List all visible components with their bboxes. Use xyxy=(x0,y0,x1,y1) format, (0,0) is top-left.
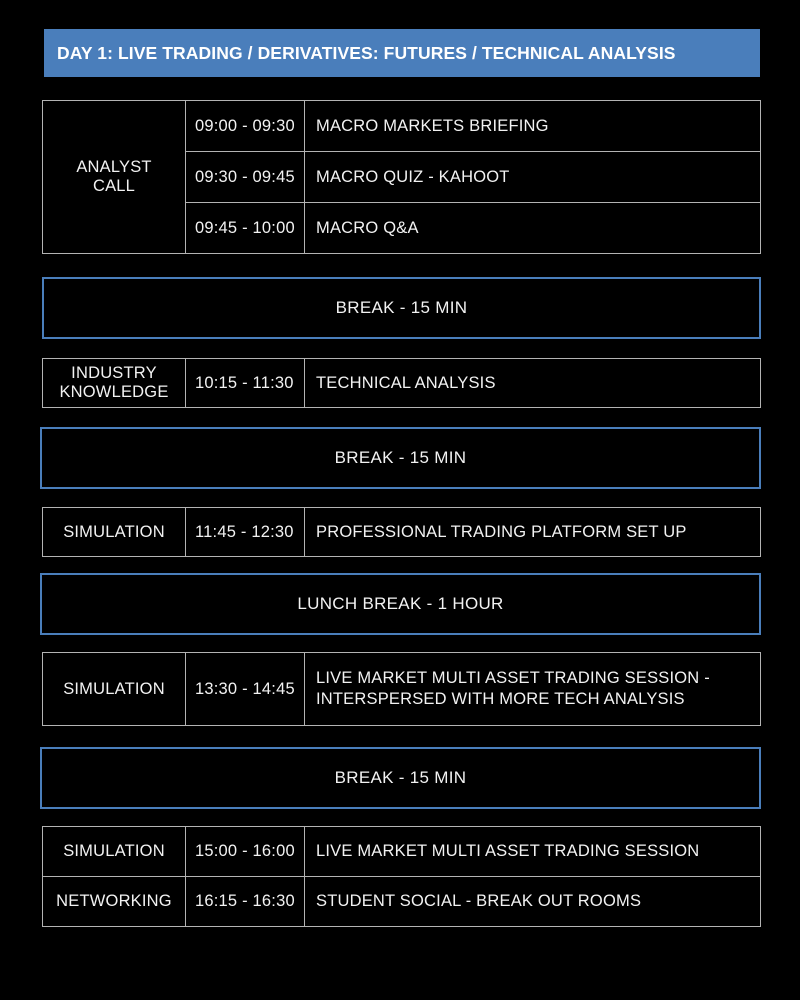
time-cell: 09:00 - 09:30 xyxy=(186,101,305,152)
break-bar-1: BREAK - 15 MIN xyxy=(42,277,761,339)
time-cell: 16:15 - 16:30 xyxy=(186,877,305,927)
table-row: SIMULATION 11:45 - 12:30 PROFESSIONAL TR… xyxy=(43,508,761,557)
table-row: SIMULATION 15:00 - 16:00 LIVE MARKET MUL… xyxy=(43,827,761,877)
schedule-block-analyst-call: ANALYST CALL 09:00 - 09:30 MACRO MARKETS… xyxy=(42,100,761,254)
time-cell: 09:45 - 10:00 xyxy=(186,203,305,254)
schedule-page: DAY 1: LIVE TRADING / DERIVATIVES: FUTUR… xyxy=(0,0,800,1000)
category-label-line: SIMULATION xyxy=(47,523,181,542)
time-cell: 10:15 - 11:30 xyxy=(186,359,305,408)
category-label-line: ANALYST xyxy=(47,158,181,177)
schedule-block-simulation-live-interspersed: SIMULATION 13:30 - 14:45 LIVE MARKET MUL… xyxy=(42,652,761,726)
description-cell: LIVE MARKET MULTI ASSET TRADING SESSION xyxy=(305,827,761,877)
category-cell-simulation: SIMULATION xyxy=(43,508,186,557)
category-cell-simulation: SIMULATION xyxy=(43,827,186,877)
break-label: LUNCH BREAK - 1 HOUR xyxy=(297,594,503,614)
category-cell-networking: NETWORKING xyxy=(43,877,186,927)
description-cell: MACRO QUIZ - KAHOOT xyxy=(305,152,761,203)
schedule-block-industry-knowledge: INDUSTRY KNOWLEDGE 10:15 - 11:30 TECHNIC… xyxy=(42,358,761,408)
day-header-banner: DAY 1: LIVE TRADING / DERIVATIVES: FUTUR… xyxy=(44,29,760,77)
break-bar-4: BREAK - 15 MIN xyxy=(40,747,761,809)
time-cell: 13:30 - 14:45 xyxy=(186,653,305,726)
description-cell: MACRO Q&A xyxy=(305,203,761,254)
category-cell-analyst-call: ANALYST CALL xyxy=(43,101,186,254)
description-cell: LIVE MARKET MULTI ASSET TRADING SESSION … xyxy=(305,653,761,726)
break-bar-lunch: LUNCH BREAK - 1 HOUR xyxy=(40,573,761,635)
time-cell: 15:00 - 16:00 xyxy=(186,827,305,877)
category-label-line: SIMULATION xyxy=(47,680,181,699)
category-cell-industry-knowledge: INDUSTRY KNOWLEDGE xyxy=(43,359,186,408)
table-row: NETWORKING 16:15 - 16:30 STUDENT SOCIAL … xyxy=(43,877,761,927)
page-title: DAY 1: LIVE TRADING / DERIVATIVES: FUTUR… xyxy=(57,43,676,64)
category-cell-simulation: SIMULATION xyxy=(43,653,186,726)
table-row: ANALYST CALL 09:00 - 09:30 MACRO MARKETS… xyxy=(43,101,761,152)
table-row: INDUSTRY KNOWLEDGE 10:15 - 11:30 TECHNIC… xyxy=(43,359,761,408)
break-label: BREAK - 15 MIN xyxy=(335,768,467,788)
category-label-line: CALL xyxy=(47,177,181,196)
schedule-block-afternoon: SIMULATION 15:00 - 16:00 LIVE MARKET MUL… xyxy=(42,826,761,927)
description-cell: TECHNICAL ANALYSIS xyxy=(305,359,761,408)
time-cell: 09:30 - 09:45 xyxy=(186,152,305,203)
break-bar-2: BREAK - 15 MIN xyxy=(40,427,761,489)
time-cell: 11:45 - 12:30 xyxy=(186,508,305,557)
break-label: BREAK - 15 MIN xyxy=(335,448,467,468)
description-cell: STUDENT SOCIAL - BREAK OUT ROOMS xyxy=(305,877,761,927)
category-label-line: KNOWLEDGE xyxy=(47,383,181,402)
schedule-block-simulation-setup: SIMULATION 11:45 - 12:30 PROFESSIONAL TR… xyxy=(42,507,761,557)
description-line: LIVE MARKET MULTI ASSET TRADING SESSION … xyxy=(316,668,760,689)
break-label: BREAK - 15 MIN xyxy=(336,298,468,318)
category-label-line: INDUSTRY xyxy=(47,364,181,383)
description-line: INTERSPERSED WITH MORE TECH ANALYSIS xyxy=(316,689,760,710)
description-cell: PROFESSIONAL TRADING PLATFORM SET UP xyxy=(305,508,761,557)
table-row: SIMULATION 13:30 - 14:45 LIVE MARKET MUL… xyxy=(43,653,761,726)
description-cell: MACRO MARKETS BRIEFING xyxy=(305,101,761,152)
